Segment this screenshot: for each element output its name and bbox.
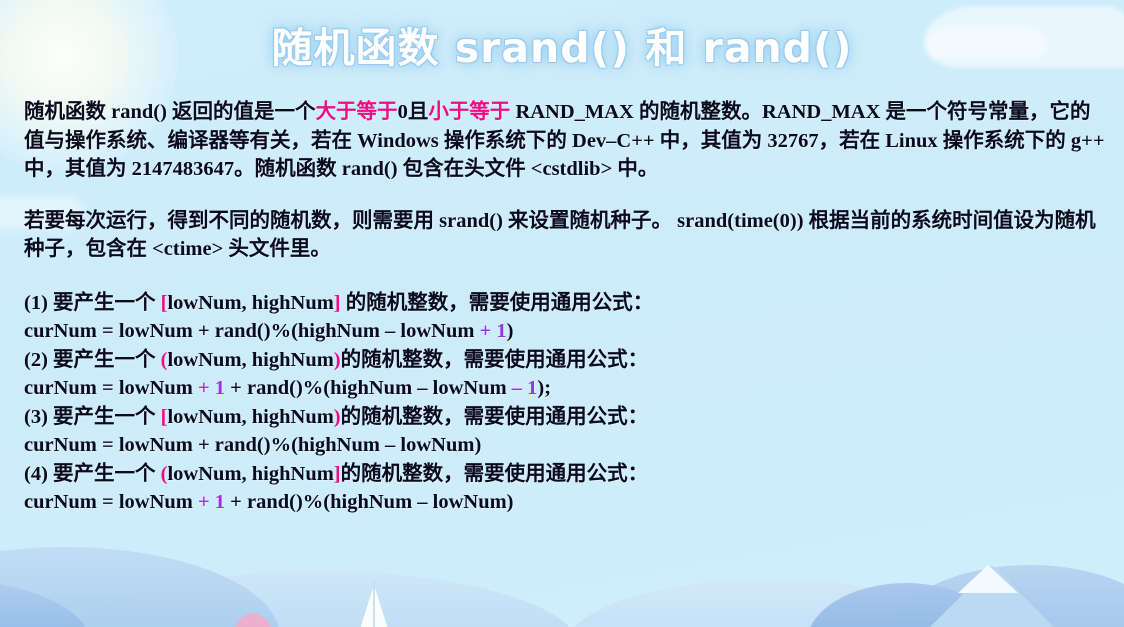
paragraph1-segment-c: 0且	[398, 101, 429, 123]
formula-index: (4)	[24, 463, 48, 485]
formula-heading: (1) 要产生一个 [lowNum, highNum] 的随机整数，需要使用通用…	[24, 289, 1108, 318]
formula-expr-accent-2: – 1	[512, 377, 538, 399]
formula-range: lowNum, highNum	[167, 406, 333, 428]
paragraph1-segment-a: 随机函数 rand() 返回的值是一个	[24, 101, 316, 123]
paragraph1-highlight-lte: 小于等于	[428, 101, 510, 123]
slide-body: 随机函数 rand() 返回的值是一个大于等于0且小于等于 RAND_MAX 的…	[24, 98, 1108, 517]
hill-decoration	[0, 579, 90, 627]
formula-desc-b: 的随机整数，需要使用通用公式：	[341, 292, 654, 314]
formula-close-bracket: )	[334, 406, 341, 428]
formula-expr-accent: + 1	[480, 320, 507, 342]
formula-expression: curNum = lowNum + rand()%(highNum – lowN…	[24, 431, 1108, 460]
mountain-peak-decoration	[930, 565, 1054, 627]
hill-decoration	[880, 565, 1124, 627]
formula-range: lowNum, highNum	[167, 349, 333, 371]
formula-expr-a: curNum = lowNum	[24, 491, 198, 513]
formula-close-bracket: )	[334, 349, 341, 371]
slide-title: 随机函数 srand() 和 rand()	[0, 14, 1124, 74]
formula-expr-a: curNum = lowNum	[24, 377, 198, 399]
hill-decoration	[806, 583, 1006, 627]
formula-close-bracket: ]	[334, 463, 341, 485]
formula-expression: curNum = lowNum + 1 + rand()%(highNum – …	[24, 488, 1108, 517]
formula-heading: (3) 要产生一个 [lowNum, highNum)的随机整数，需要使用通用公…	[24, 403, 1108, 432]
formula-expr-a: curNum = lowNum + rand()%(highNum – lowN…	[24, 434, 481, 456]
paragraph-srand-description: 若要每次运行，得到不同的随机数，则需要用 srand() 来设置随机种子。 sr…	[24, 207, 1108, 264]
formula-heading: (2) 要产生一个 (lowNum, highNum)的随机整数，需要使用通用公…	[24, 346, 1108, 375]
paragraph-rand-description: 随机函数 rand() 返回的值是一个大于等于0且小于等于 RAND_MAX 的…	[24, 98, 1108, 184]
hill-decoration	[0, 547, 280, 627]
paragraph-spacer	[24, 264, 1108, 289]
formula-index: (1)	[24, 292, 48, 314]
formula-desc-a: 要产生一个	[48, 463, 161, 485]
sailboat-decoration	[360, 585, 388, 627]
formula-expr-accent: + 1	[198, 491, 225, 513]
formula-heading: (4) 要产生一个 (lowNum, highNum]的随机整数，需要使用通用公…	[24, 460, 1108, 489]
formula-desc-b: 的随机整数，需要使用通用公式：	[341, 463, 649, 485]
formula-desc-b: 的随机整数，需要使用通用公式：	[341, 406, 649, 428]
formula-expression: curNum = lowNum + rand()%(highNum – lowN…	[24, 317, 1108, 346]
slide-root: 随机函数 srand() 和 rand() 随机函数 rand() 返回的值是一…	[0, 0, 1124, 627]
sailboat-mast-decoration	[373, 581, 375, 627]
formula-expression: curNum = lowNum + 1 + rand()%(highNum – …	[24, 374, 1108, 403]
formula-close-bracket: ]	[334, 292, 341, 314]
formula-expr-a: curNum = lowNum + rand()%(highNum – lowN…	[24, 320, 480, 342]
formula-expr-b: + rand()%(highNum – lowNum	[225, 377, 512, 399]
formula-desc-a: 要产生一个	[48, 292, 161, 314]
formula-range: lowNum, highNum	[167, 463, 333, 485]
paragraph1-highlight-gte: 大于等于	[316, 101, 398, 123]
formula-expr-b: )	[507, 320, 514, 342]
pink-blob-decoration	[232, 613, 274, 627]
paragraph-spacer	[24, 184, 1108, 207]
formula-index: (2)	[24, 349, 48, 371]
formula-expr-c: );	[537, 377, 551, 399]
formula-desc-b: 的随机整数，需要使用通用公式：	[341, 349, 649, 371]
formula-desc-a: 要产生一个	[48, 406, 161, 428]
formula-expr-b: + rand()%(highNum – lowNum)	[225, 491, 513, 513]
formula-desc-a: 要产生一个	[48, 349, 161, 371]
formula-expr-accent: + 1	[198, 377, 225, 399]
formula-list: (1) 要产生一个 [lowNum, highNum] 的随机整数，需要使用通用…	[24, 289, 1108, 517]
snow-cap-decoration	[958, 565, 1018, 593]
formula-index: (3)	[24, 406, 48, 428]
formula-range: lowNum, highNum	[167, 292, 333, 314]
paragraph2-text: 若要每次运行，得到不同的随机数，则需要用 srand() 来设置随机种子。 sr…	[24, 210, 1096, 261]
hill-decoration	[60, 571, 580, 627]
hill-decoration	[560, 579, 980, 627]
